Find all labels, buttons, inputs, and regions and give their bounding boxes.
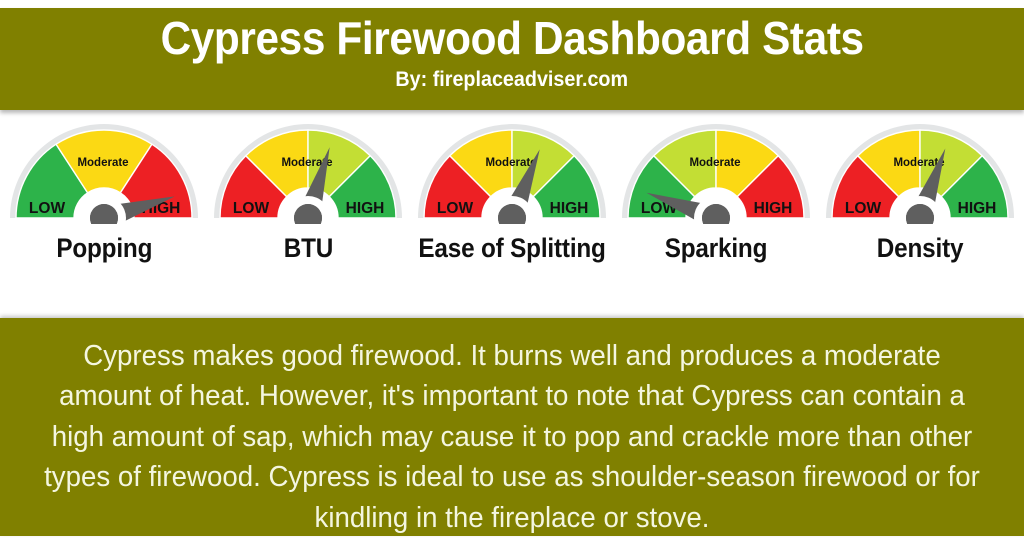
gauge-card-density[interactable]: LOWModerateHIGHDensity (822, 122, 1018, 264)
gauge-dial: LOWModerateHIGH (621, 122, 811, 224)
gauge-label-low: LOW (437, 200, 474, 217)
gauge-dial: LOWModerateHIGH (417, 122, 607, 224)
gauge-title: Popping (56, 233, 152, 264)
gauge-title: Density (877, 233, 964, 264)
gauge-card-btu[interactable]: LOWModerateHIGHBTU (210, 122, 406, 264)
summary-paragraph: Cypress makes good firewood. It burns we… (37, 336, 988, 538)
gauge-label-moderate: Moderate (77, 157, 128, 169)
gauge-label-low: LOW (233, 200, 270, 217)
gauge-label-low: LOW (845, 200, 882, 217)
gauge-card-ease-of-splitting[interactable]: LOWModerateHIGHEase of Splitting (414, 122, 610, 264)
gauge-label-low: LOW (29, 200, 66, 217)
gauge-dial: LOWModerateHIGH (9, 122, 199, 224)
gauge-label-high: HIGH (550, 200, 589, 217)
gauge-title: Ease of Splitting (418, 233, 605, 264)
page-title: Cypress Firewood Dashboard Stats (160, 14, 863, 62)
gauge-dial: LOWModerateHIGH (825, 122, 1015, 224)
gauge-label-high: HIGH (754, 200, 793, 217)
gauge-label-high: HIGH (958, 200, 997, 217)
gauge-row: LOWModerateHIGHPoppingLOWModerateHIGHBTU… (0, 122, 1024, 294)
gauge-card-popping[interactable]: LOWModerateHIGHPopping (6, 122, 202, 264)
byline-credit: By: fireplaceadviser.com (396, 68, 629, 92)
summary-banner: Cypress makes good firewood. It burns we… (0, 318, 1024, 536)
gauge-dial: LOWModerateHIGH (213, 122, 403, 224)
gauge-label-high: HIGH (346, 200, 385, 217)
gauge-label-moderate: Moderate (689, 157, 740, 169)
gauge-title: BTU (283, 233, 332, 264)
header-banner: Cypress Firewood Dashboard Stats By: fir… (0, 8, 1024, 110)
gauge-card-sparking[interactable]: LOWModerateHIGHSparking (618, 122, 814, 264)
gauge-label-moderate: Moderate (485, 157, 536, 169)
gauge-title: Sparking (665, 233, 768, 264)
